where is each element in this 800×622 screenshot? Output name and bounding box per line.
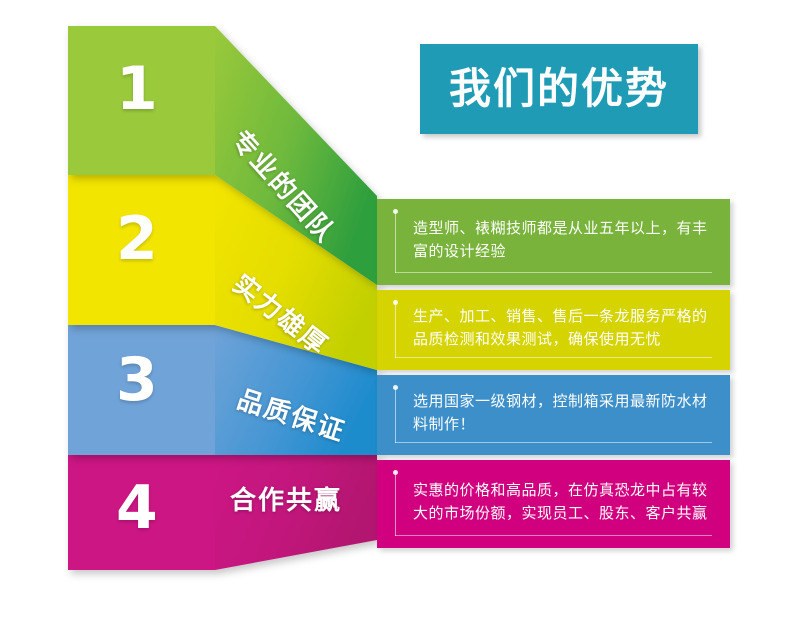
bracket-marker-icon (395, 388, 396, 443)
band-number-2: 2 (116, 209, 158, 269)
bracket-marker-icon (395, 473, 396, 536)
band-number-3: 3 (116, 350, 158, 410)
description-text-3: 选用国家一级钢材，控制箱采用最新防水材料制作！ (413, 390, 708, 437)
description-panel-1: 造型师、裱糊技师都是从业五年以上，有丰富的设计经验 (377, 199, 730, 285)
page-title: 我们的优势 (449, 68, 669, 110)
band-number-4: 4 (116, 478, 158, 538)
panel-underline (395, 357, 712, 358)
panel-underline (395, 272, 712, 273)
description-panel-4: 实惠的价格和高品质，在仿真恐龙中占有较大的市场份额，实现员工、股东、客户共赢 (377, 460, 730, 548)
band-number-1: 1 (116, 59, 158, 119)
band-label-4: 合作共赢 (230, 488, 342, 514)
description-text-2: 生产、加工、销售、售后一条龙服务严格的品质检测和效果测试，确保使用无忧 (413, 305, 708, 352)
panel-underline (395, 442, 712, 443)
description-panel-3: 选用国家一级钢材，控制箱采用最新防水材料制作！ (377, 375, 730, 455)
bracket-marker-icon (395, 303, 396, 358)
description-text-4: 实惠的价格和高品质，在仿真恐龙中占有较大的市场份额，实现员工、股东、客户共赢 (413, 479, 708, 526)
description-panel-2: 生产、加工、销售、售后一条龙服务严格的品质检测和效果测试，确保使用无忧 (377, 290, 730, 370)
title-banner: 我们的优势 (420, 44, 698, 134)
infographic-canvas: 1 2 3 4 专业的团队 实力雄厚 品质保证 合作共赢 我们的优势 造型师、裱… (0, 0, 800, 622)
description-text-1: 造型师、裱糊技师都是从业五年以上，有丰富的设计经验 (413, 217, 708, 264)
panel-underline (395, 535, 712, 536)
bracket-marker-icon (395, 212, 396, 273)
